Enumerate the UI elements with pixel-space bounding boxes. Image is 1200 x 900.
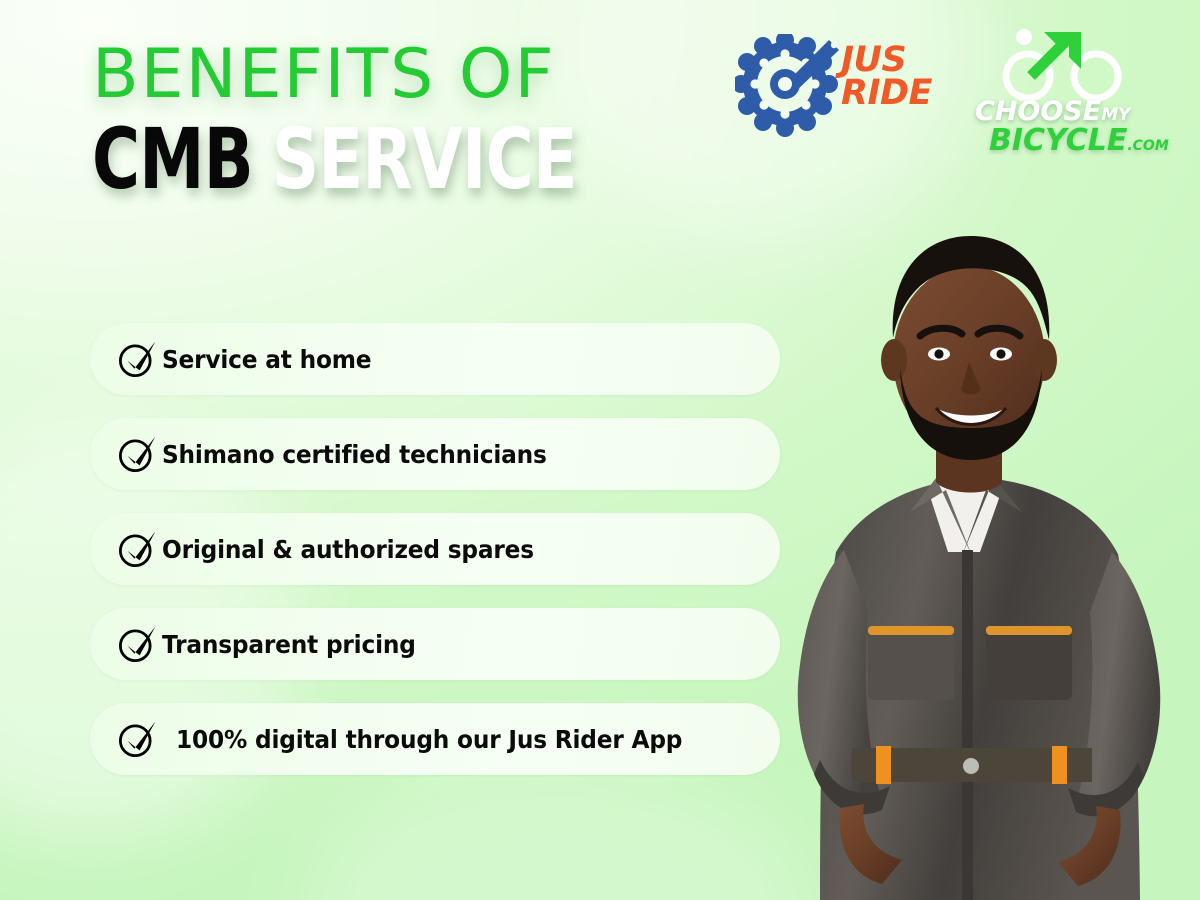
left-pupil — [934, 349, 943, 358]
promo-poster: BENEFITS OF CMBSERVICE — [0, 0, 1200, 900]
cmb-word-my: MY — [1101, 105, 1130, 125]
jus-ride-logo[interactable]: JUS RIDE — [735, 32, 935, 144]
headline-line-service: CMBSERVICE — [92, 117, 712, 201]
headline-line-benefits: BENEFITS OF — [92, 42, 712, 109]
right-ear — [1031, 339, 1057, 381]
benefit-label: Transparent pricing — [162, 630, 416, 659]
choosemybicycle-logo[interactable]: CHOOSEMY BICYCLE.COM — [975, 26, 1185, 166]
benefit-item[interactable]: Shimano certified technicians — [90, 418, 780, 490]
benefits-list: Service at home Shimano certified techni… — [90, 323, 780, 798]
benefit-label: Service at home — [162, 345, 371, 374]
headline-word-cmb: CMB — [92, 117, 253, 201]
circled-checkmark-icon — [116, 623, 158, 665]
circled-checkmark-icon — [116, 433, 158, 475]
cmb-word-bicycle: BICYCLE — [989, 123, 1127, 158]
benefit-item[interactable]: Original & authorized spares — [90, 513, 780, 585]
bicycle-arrow-icon — [997, 28, 1127, 104]
headline-block: BENEFITS OF CMBSERVICE — [92, 42, 712, 201]
chainring-crank-icon — [735, 34, 843, 142]
jus-ride-line1: JUS — [841, 44, 932, 77]
right-chest-pocket — [986, 626, 1072, 700]
left-pocket-trim — [868, 626, 954, 635]
benefit-label: Shimano certified technicians — [162, 440, 547, 469]
jus-ride-wordmark: JUS RIDE — [841, 44, 932, 110]
jus-ride-line2: RIDE — [841, 77, 932, 110]
benefit-label: Original & authorized spares — [162, 535, 534, 564]
benefit-item[interactable]: 100% digital through our Jus Rider App — [90, 703, 780, 775]
choosemybicycle-wordmark: CHOOSEMY BICYCLE.COM — [975, 98, 1185, 156]
left-ear — [881, 339, 907, 381]
logo-strip: JUS RIDE CHOOSEMY BICYCLE.COM — [735, 26, 1185, 166]
headline-word-service: SERVICE — [272, 117, 577, 201]
cmb-wordmark-row1: CHOOSEMY — [975, 98, 1185, 125]
left-chest-pocket — [868, 626, 954, 700]
technician-photo — [740, 160, 1200, 900]
belt-loop-left — [876, 746, 891, 784]
right-pupil — [996, 349, 1005, 358]
belt-loop-right — [1052, 746, 1067, 784]
front-placket — [962, 550, 973, 900]
benefit-item[interactable]: Service at home — [90, 323, 780, 395]
circled-checkmark-icon — [116, 528, 158, 570]
right-pocket-trim — [986, 626, 1072, 635]
benefit-label: 100% digital through our Jus Rider App — [176, 725, 682, 754]
belt-snap-button — [963, 758, 979, 774]
cmb-wordmark-row2: BICYCLE.COM — [975, 126, 1185, 156]
benefit-item[interactable]: Transparent pricing — [90, 608, 780, 680]
circled-checkmark-icon — [116, 338, 158, 380]
cmb-word-dotcom: .COM — [1127, 138, 1168, 154]
circled-checkmark-icon — [116, 718, 158, 760]
